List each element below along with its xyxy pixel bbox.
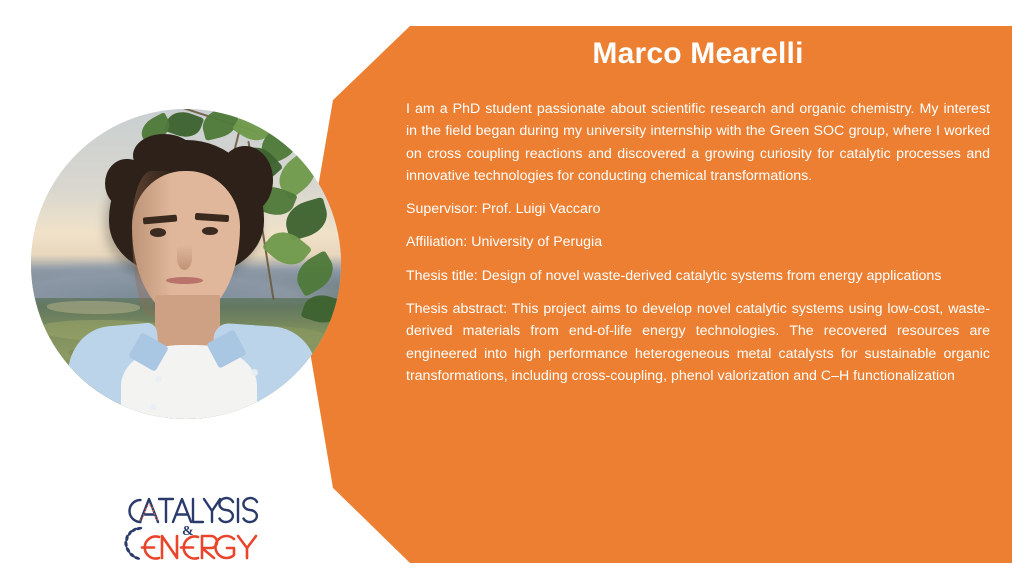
page-title: Marco Mearelli	[406, 36, 990, 72]
slide-canvas: Marco Mearelli I am a PhD student passio…	[0, 0, 1024, 574]
avatar	[31, 109, 341, 419]
catalysis-energy-logo: &	[118, 491, 298, 563]
shirt-button	[155, 376, 162, 383]
thesis-abstract-paragraph: Thesis abstract: This project aims to de…	[406, 298, 990, 387]
field-patch	[47, 301, 140, 313]
thesis-title-line: Thesis title: Design of novel waste-deri…	[406, 265, 990, 287]
logo-artwork: &	[118, 491, 298, 563]
supervisor-line: Supervisor: Prof. Luigi Vaccaro	[406, 198, 990, 220]
bio-paragraph: I am a PhD student passionate about scie…	[406, 98, 990, 187]
sunburst-icon	[124, 526, 143, 560]
portrait-photo	[31, 109, 341, 419]
logo-word-catalysis	[130, 498, 258, 522]
mouth	[166, 277, 203, 284]
affiliation-line: Affiliation: University of Perugia	[406, 231, 990, 253]
profile-text-column: Marco Mearelli I am a PhD student passio…	[406, 36, 990, 387]
logo-word-energy	[142, 536, 256, 559]
